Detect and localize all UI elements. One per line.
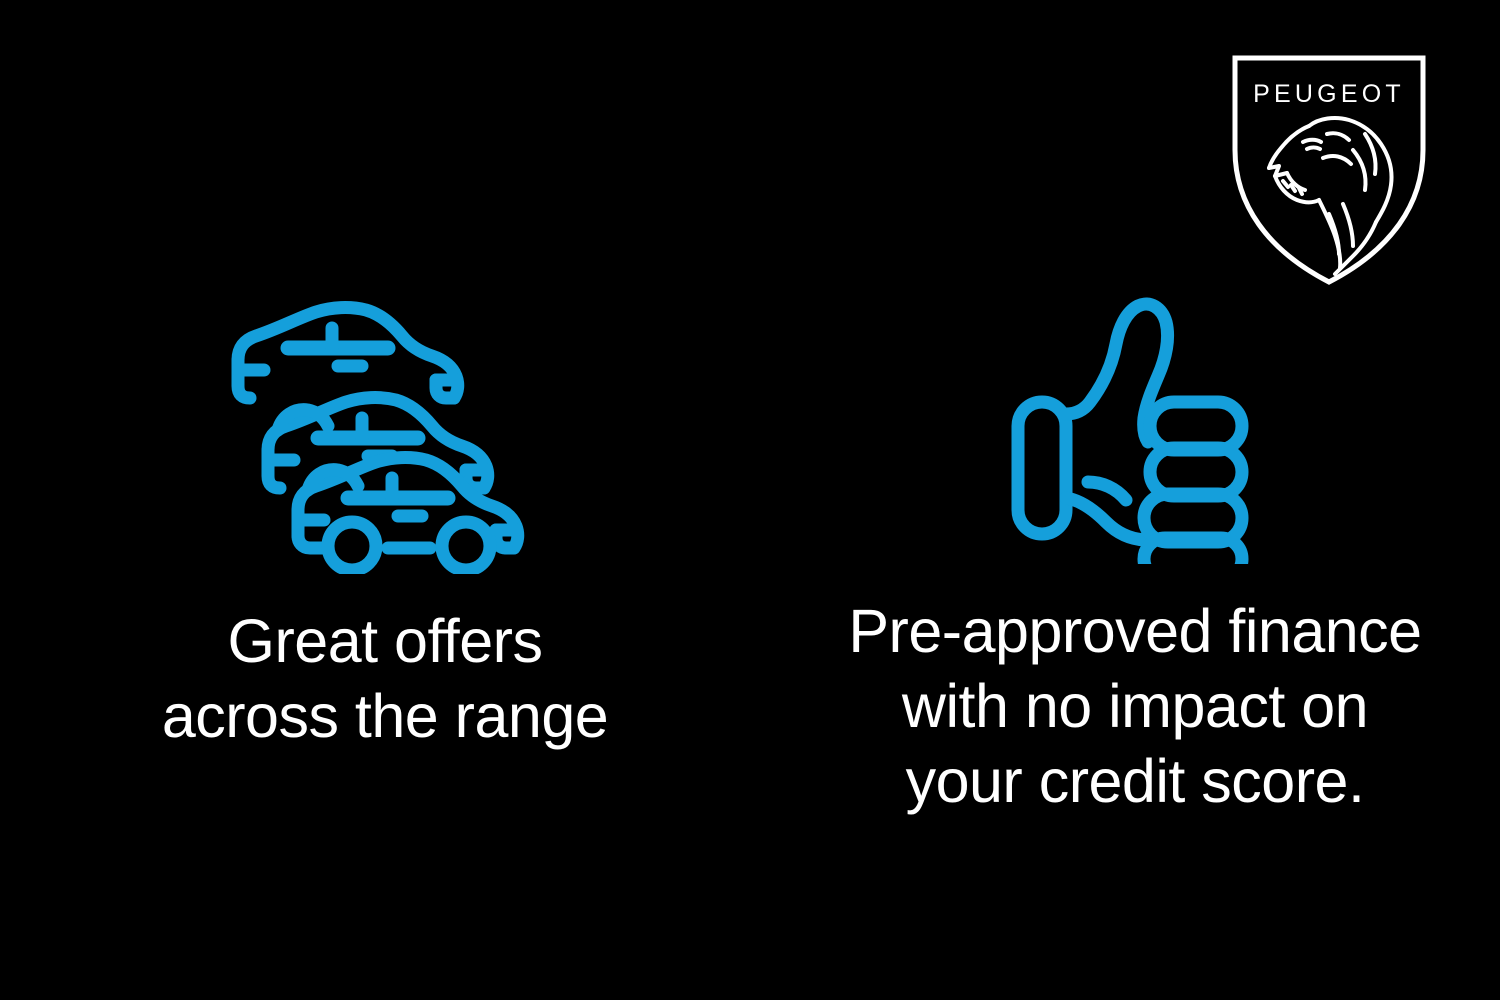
thumb-cuff [1018, 402, 1066, 534]
feature-item-pre-approved-finance: Pre-approved finance with no impact on y… [770, 0, 1500, 819]
thumbs-up-icon [1010, 284, 1260, 564]
three-cars-icon [220, 284, 550, 574]
car-outline-back [238, 308, 458, 398]
promo-banner: PEUGEOT [0, 0, 1500, 1000]
feature-item-great-offers: Great offers across the range [0, 0, 770, 754]
feature-caption-great-offers: Great offers across the range [150, 604, 620, 754]
feature-list: Great offers across the range [0, 0, 1500, 1000]
finger-4 [1144, 538, 1242, 564]
feature-caption-pre-approved-finance: Pre-approved finance with no impact on y… [845, 594, 1425, 819]
